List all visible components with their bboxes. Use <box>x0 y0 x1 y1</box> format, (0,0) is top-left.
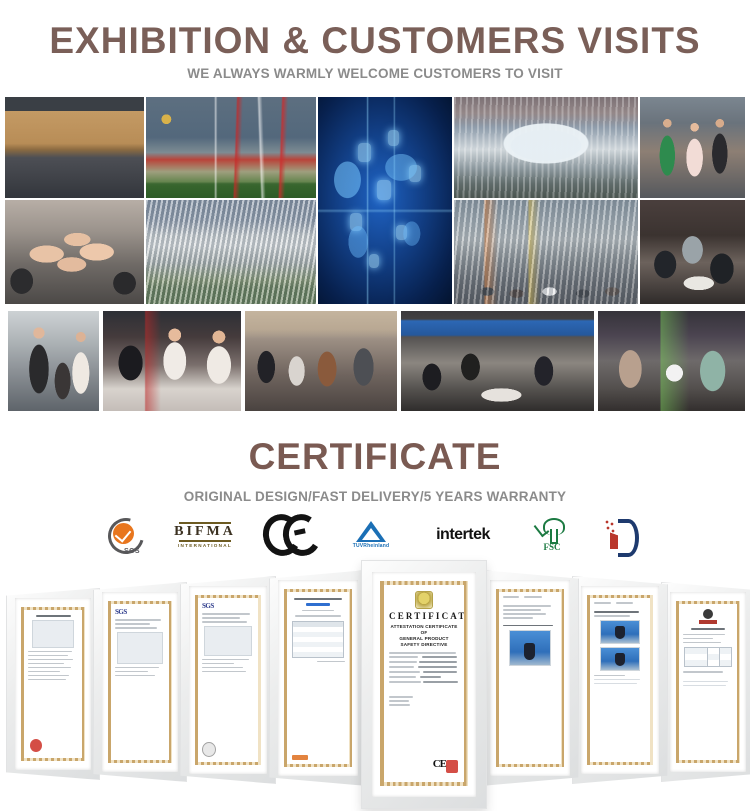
certificate-title: CERTIFICATE <box>0 435 750 479</box>
bifma-wordmark: BIFMA <box>174 525 236 539</box>
photo-aisle-crowd <box>245 311 397 411</box>
photo-digital-world-map <box>318 97 452 304</box>
certificate-frame-hero[interactable]: CERTIFICATE ATTESTATION CERTIFICATE OF G… <box>361 560 487 809</box>
certificate-frame-4[interactable] <box>269 570 367 786</box>
ce-mark-icon: CE <box>433 758 446 770</box>
certificate-frame-7[interactable] <box>572 576 668 784</box>
photo-fair-entrance-crowd <box>454 200 638 304</box>
certificate-frame-3[interactable]: SGS <box>180 576 276 784</box>
hero-doc-title: CERTIFICATE <box>389 611 459 622</box>
certificate-frame-8[interactable] <box>661 582 750 782</box>
certificate-frame-2[interactable]: SGS <box>93 582 187 782</box>
tuv-label: TUVRheinland <box>353 543 390 549</box>
photo-exhibition-hall-aerial <box>146 200 316 304</box>
hero-doc-subtitle-1: ATTESTATION CERTIFICATE OF <box>389 624 459 636</box>
sgs-icon: SGS <box>104 515 148 555</box>
sgs-watermark: SGS <box>202 602 254 610</box>
certificate-frame-gallery: SGS SGS <box>0 560 750 811</box>
photo-booth-meeting <box>640 200 745 304</box>
certificate-frame-1[interactable] <box>6 588 100 780</box>
bifma-icon: BIFMA INTERNATIONAL <box>174 515 236 555</box>
photo-customers-green-shirt <box>640 97 745 198</box>
exhibition-subtitle: WE ALWAYS WARMLY WELCOME CUSTOMERS TO VI… <box>0 64 750 84</box>
exhibition-title: EXHIBITION & CUSTOMERS VISITS <box>0 18 750 64</box>
exhibition-photo-grid <box>0 95 750 415</box>
photo-showroom-visitors <box>8 311 99 411</box>
tuv-rheinland-icon: TUVRheinland <box>344 515 398 555</box>
photo-team-fist-bump <box>5 200 144 304</box>
ce-icon <box>262 515 318 555</box>
sgs-label: SGS <box>124 548 140 555</box>
intertek-wordmark: intertek <box>436 526 490 544</box>
photo-conference-room-meeting <box>401 311 594 411</box>
certificate-subtitle: ORIGINAL DESIGN/FAST DELIVERY/5 YEARS WA… <box>0 487 750 507</box>
photo-booth-mascot <box>598 311 745 411</box>
certificate-frame-6[interactable] <box>481 570 579 786</box>
bifma-subtext: INTERNATIONAL <box>178 543 232 548</box>
photo-booth-group-photo <box>5 97 144 198</box>
fsc-icon: FSC <box>528 515 576 555</box>
gold-seal-icon <box>415 591 433 609</box>
photo-glass-arch-building <box>454 97 638 198</box>
hero-doc-subtitle-2: GENERAL PRODUCT SAFETY DIRECTIVE <box>389 636 459 648</box>
red-seal-icon <box>446 760 458 773</box>
dekra-icon <box>602 515 646 555</box>
promo-page: EXHIBITION & CUSTOMERS VISITS WE ALWAYS … <box>0 0 750 811</box>
photo-booth-discussion <box>103 311 241 411</box>
sgs-watermark: SGS <box>115 608 165 616</box>
intertek-icon: intertek <box>424 515 502 555</box>
photo-canton-fair-entrance <box>146 97 316 198</box>
certification-logo-strip: SGS BIFMA INTERNATIONAL TUVRheinland int… <box>0 512 750 558</box>
